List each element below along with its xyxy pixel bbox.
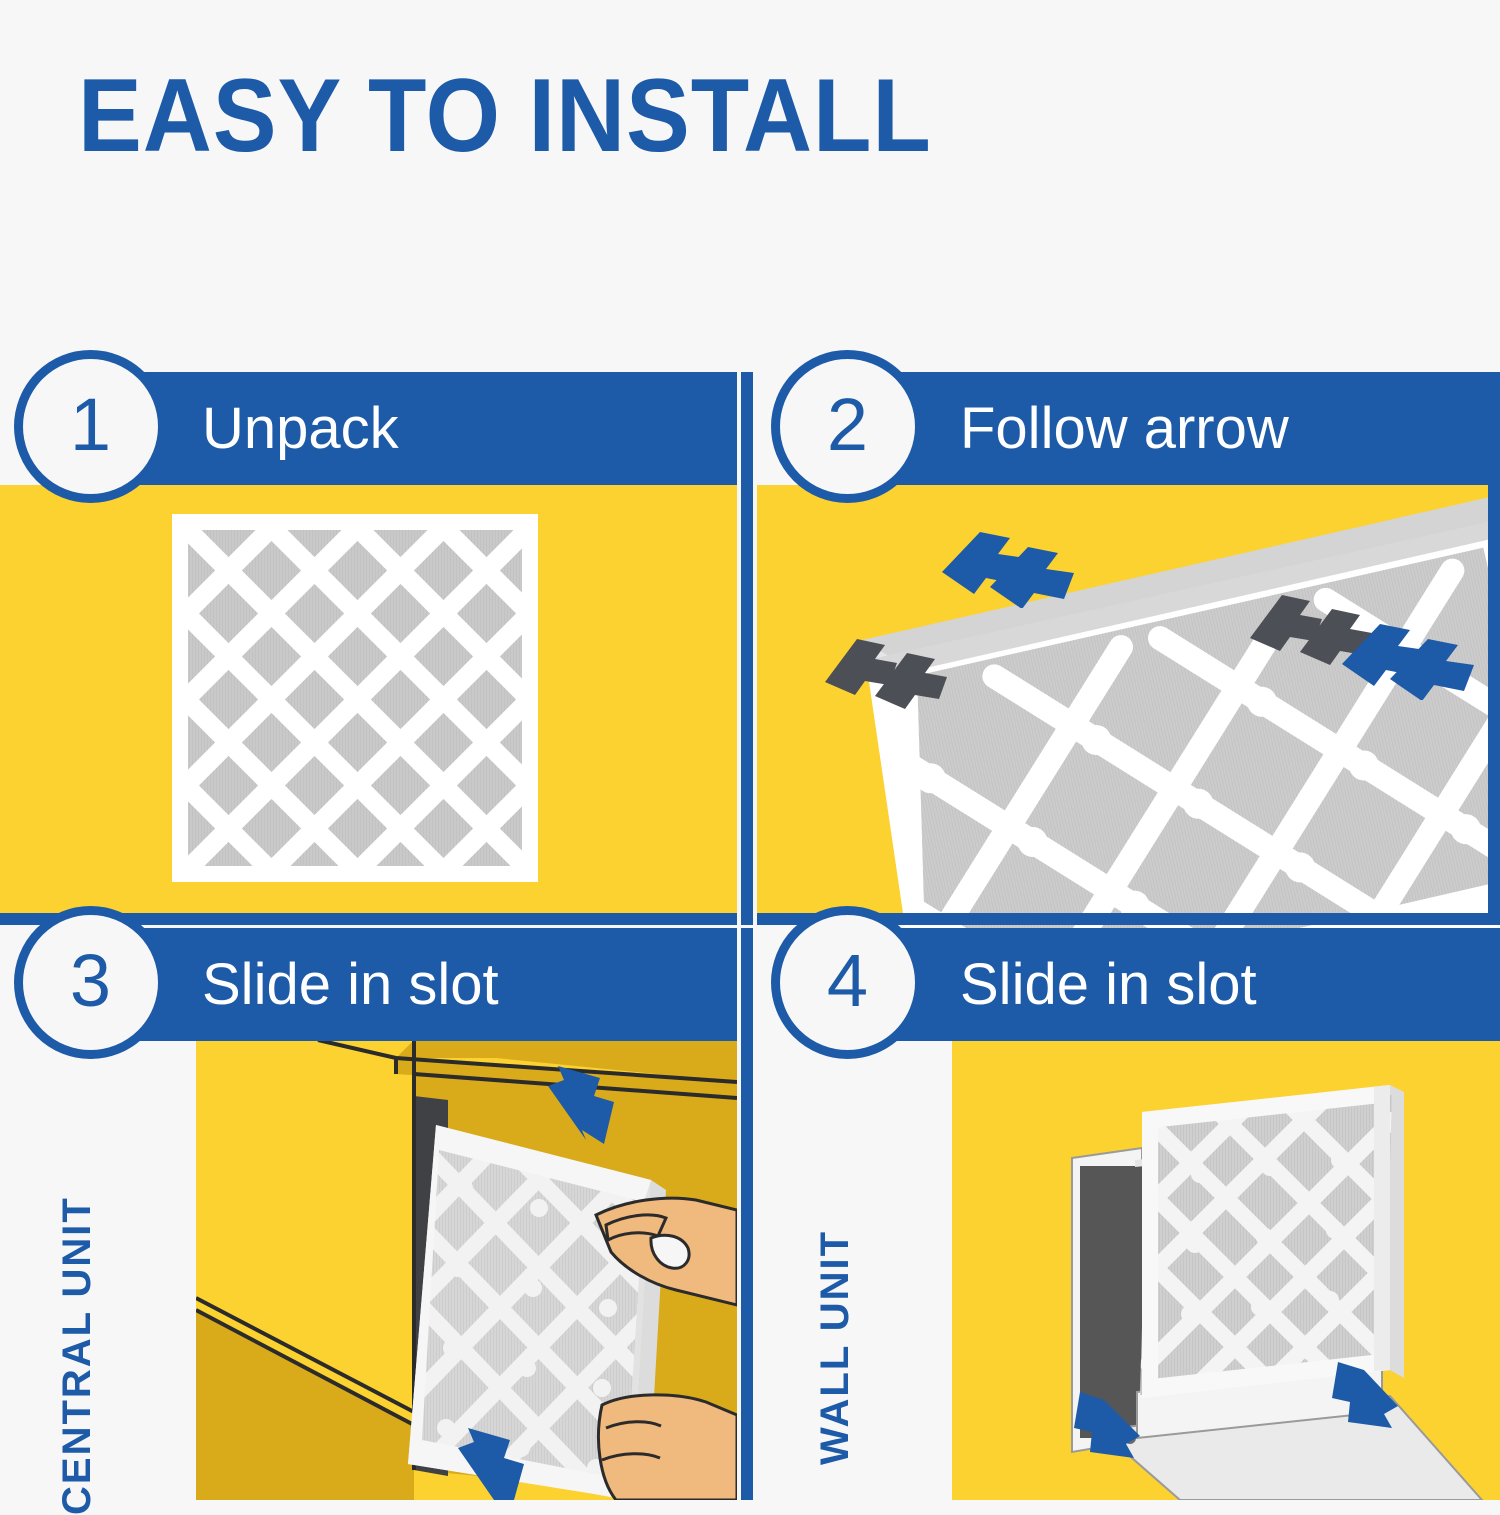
panel-4-illustration [952,1040,1500,1500]
hands-inserting-filter-into-central-unit-icon [196,1040,737,1500]
right-edge-rule [1488,372,1500,925]
step-1-label: Unpack [202,400,399,458]
panel-1-illustration [0,485,737,925]
step-2-number-badge: 2 [771,350,924,503]
flat-air-filter-icon [0,485,737,925]
step-2-number: 2 [827,388,868,462]
step-1-number-badge: 1 [14,350,167,503]
blue-airflow-arrow-icon-left [940,528,1080,608]
panel-4-side-label: WALL UNIT [813,1230,858,1465]
blue-airflow-arrow-icon-right [1340,620,1480,700]
panel-3-illustration [196,1040,737,1500]
tilted-filter-with-airflow-arrows-icon [757,485,1500,940]
page-title: EASY TO INSTALL [78,62,932,171]
panel-3-side-label: CENTRAL UNIT [55,1196,100,1515]
step-4-number-badge: 4 [771,906,924,1059]
step-4-label: Slide in slot [960,956,1257,1014]
step-3-label: Slide in slot [202,956,499,1014]
panel-2-illustration [757,485,1500,940]
step-1-header: Unpack [87,372,737,485]
step-4-number: 4 [827,944,868,1018]
step-3-number-badge: 3 [14,906,167,1059]
step-4-header: Slide in slot [844,928,1500,1041]
filter-inserted-into-wall-vent-icon [952,1040,1500,1500]
step-3-header: Slide in slot [87,928,737,1041]
vertical-divider-top [741,372,753,925]
vertical-divider-bottom [741,928,753,1500]
step-3-number: 3 [70,944,111,1018]
hand-lower-icon [598,1395,737,1500]
infographic-canvas: EASY TO INSTALL [0,0,1500,1500]
step-1-number: 1 [70,388,111,462]
step-2-header: Follow arrow [844,372,1500,485]
step-2-label: Follow arrow [960,400,1289,458]
